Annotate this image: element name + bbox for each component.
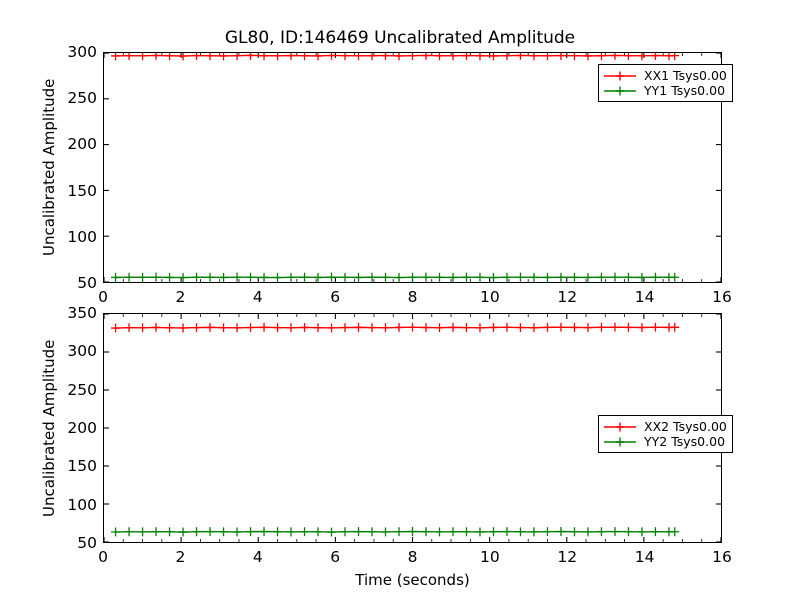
x-tick-label: 2 — [157, 548, 203, 566]
y-tick-label: 200 — [39, 135, 97, 153]
x-tick-label: 8 — [390, 548, 436, 566]
x-tick-label: 8 — [390, 288, 436, 306]
y-tick-label: 100 — [39, 228, 97, 246]
y-tick-label: 200 — [39, 419, 97, 437]
x-tick-label: 10 — [467, 288, 513, 306]
legend-entry: YY1 Tsys0.00 — [603, 83, 727, 98]
x-tick-label: 16 — [699, 288, 745, 306]
legend-swatch-icon — [603, 69, 637, 83]
legend-label: XX2 Tsys0.00 — [644, 419, 727, 434]
legend-top: XX1 Tsys0.00YY1 Tsys0.00 — [598, 64, 733, 102]
legend-bottom: XX2 Tsys0.00YY2 Tsys0.00 — [598, 415, 733, 453]
x-tick-label: 4 — [235, 288, 281, 306]
y-tick-label: 150 — [39, 457, 97, 475]
x-tick-label: 14 — [622, 548, 668, 566]
legend-swatch-icon — [603, 84, 637, 98]
legend-swatch-icon — [603, 420, 637, 434]
x-tick-label: 6 — [312, 288, 358, 306]
figure-canvas: GL80, ID:146469 Uncalibrated Amplitude U… — [0, 0, 800, 600]
y-tick-label: 250 — [39, 381, 97, 399]
legend-label: YY2 Tsys0.00 — [644, 434, 725, 449]
x-tick-label: 6 — [312, 548, 358, 566]
y-tick-label: 350 — [39, 304, 97, 322]
legend-swatch-icon — [603, 435, 637, 449]
legend-entry: XX1 Tsys0.00 — [603, 68, 727, 83]
x-tick-label: 12 — [544, 288, 590, 306]
legend-label: YY1 Tsys0.00 — [644, 83, 725, 98]
legend-label: XX1 Tsys0.00 — [644, 68, 727, 83]
y-tick-label: 150 — [39, 182, 97, 200]
x-tick-label: 0 — [80, 548, 126, 566]
x-tick-label: 4 — [235, 548, 281, 566]
y-tick-label: 300 — [39, 342, 97, 360]
series-xx — [111, 53, 679, 60]
x-tick-label: 16 — [699, 548, 745, 566]
x-tick-label: 10 — [467, 548, 513, 566]
figure-title: GL80, ID:146469 Uncalibrated Amplitude — [0, 28, 800, 48]
series-yy — [111, 527, 679, 536]
series-yy — [111, 273, 679, 282]
legend-entry: XX2 Tsys0.00 — [603, 419, 727, 434]
x-tick-label: 14 — [622, 288, 668, 306]
y-tick-label: 100 — [39, 496, 97, 514]
series-xx — [111, 323, 679, 333]
x-tick-label: 2 — [157, 288, 203, 306]
y-tick-label: 250 — [39, 89, 97, 107]
x-axis-label: Time (seconds) — [355, 571, 470, 589]
legend-entry: YY2 Tsys0.00 — [603, 434, 727, 449]
x-tick-label: 12 — [544, 548, 590, 566]
y-tick-label: 300 — [39, 43, 97, 61]
